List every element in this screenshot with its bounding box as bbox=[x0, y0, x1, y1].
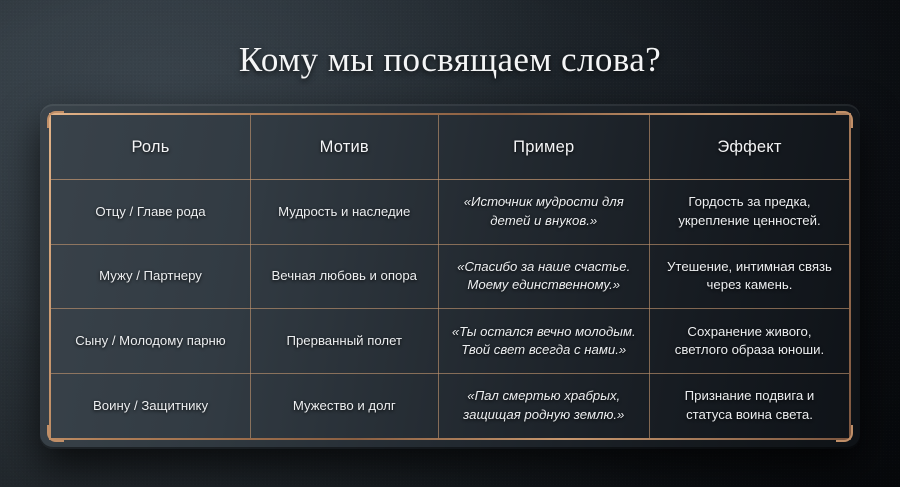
column-header-role: Роль bbox=[51, 115, 251, 180]
table-row: Сыну / Молодому парню Прерванный полет «… bbox=[51, 309, 849, 374]
cell-motive: Мудрость и наследие bbox=[251, 180, 439, 245]
cell-effect: Утешение, интимная связь через камень. bbox=[649, 244, 849, 309]
cell-motive: Прерванный полет bbox=[251, 309, 439, 374]
table-row: Мужу / Партнеру Вечная любовь и опора «С… bbox=[51, 244, 849, 309]
cell-example: «Спасибо за наше счастье. Моему единстве… bbox=[438, 244, 649, 309]
cell-motive: Вечная любовь и опора bbox=[251, 244, 439, 309]
cell-role: Отцу / Главе рода bbox=[51, 180, 251, 245]
table-plaque: Роль Мотив Пример Эффект Отцу / Главе ро… bbox=[40, 104, 860, 449]
cell-role: Сыну / Молодому парню bbox=[51, 309, 251, 374]
table-surface: Роль Мотив Пример Эффект Отцу / Главе ро… bbox=[51, 115, 849, 438]
cell-effect: Сохранение живого, светлого образа юноши… bbox=[649, 309, 849, 374]
cell-example: «Источник мудрости для детей и внуков.» bbox=[438, 180, 649, 245]
page-title: Кому мы посвящаем слова? bbox=[0, 38, 900, 82]
cell-example: «Ты остался вечно молодым. Твой свет все… bbox=[438, 309, 649, 374]
cell-role: Мужу / Партнеру bbox=[51, 244, 251, 309]
column-header-effect: Эффект bbox=[649, 115, 849, 180]
table-row: Отцу / Главе рода Мудрость и наследие «И… bbox=[51, 180, 849, 245]
cell-motive: Мужество и долг bbox=[251, 373, 439, 438]
column-header-example: Пример bbox=[438, 115, 649, 180]
cell-effect: Гордость за предка, укрепление ценностей… bbox=[649, 180, 849, 245]
cell-example: «Пал смертью храбрых, защищая родную зем… bbox=[438, 373, 649, 438]
table-header-row: Роль Мотив Пример Эффект bbox=[51, 115, 849, 180]
column-header-motive: Мотив bbox=[251, 115, 439, 180]
table-row: Воину / Защитнику Мужество и долг «Пал с… bbox=[51, 373, 849, 438]
cell-role: Воину / Защитнику bbox=[51, 373, 251, 438]
slide-canvas: Кому мы посвящаем слова? Роль Мотив Прим… bbox=[0, 0, 900, 487]
comparison-table: Роль Мотив Пример Эффект Отцу / Главе ро… bbox=[51, 115, 849, 438]
cell-effect: Признание подвига и статуса воина света. bbox=[649, 373, 849, 438]
